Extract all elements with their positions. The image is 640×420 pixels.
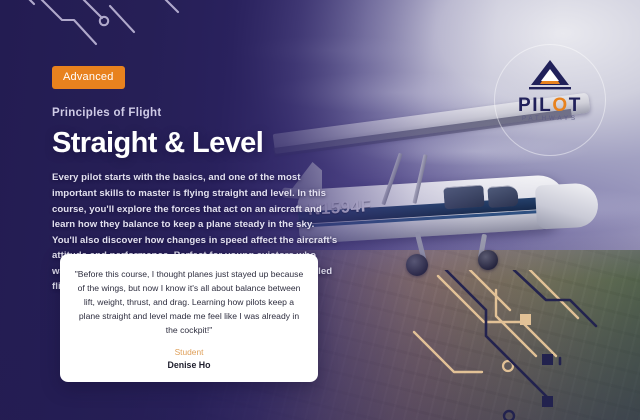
testimonial-card: "Before this course, I thought planes ju… bbox=[60, 254, 318, 382]
course-category-label: Principles of Flight bbox=[52, 107, 352, 119]
logo-word-o: O bbox=[552, 95, 568, 116]
brand-logo[interactable]: PILOT Pathways bbox=[502, 52, 598, 148]
difficulty-badge[interactable]: Advanced bbox=[52, 66, 125, 89]
logo-wordmark: PILOT bbox=[502, 96, 598, 115]
testimonial-role: Student bbox=[74, 347, 304, 357]
testimonial-author: Denise Ho bbox=[74, 360, 304, 370]
testimonial-quote: "Before this course, I thought planes ju… bbox=[74, 268, 304, 338]
delta-wing-icon bbox=[527, 58, 573, 92]
course-title: Straight & Level bbox=[52, 128, 352, 158]
logo-word-pre: PIL bbox=[518, 95, 552, 116]
logo-word-post: T bbox=[569, 95, 582, 116]
course-hero-banner: N1594F bbox=[0, 0, 640, 420]
logo-subtitle: Pathways bbox=[502, 116, 598, 122]
